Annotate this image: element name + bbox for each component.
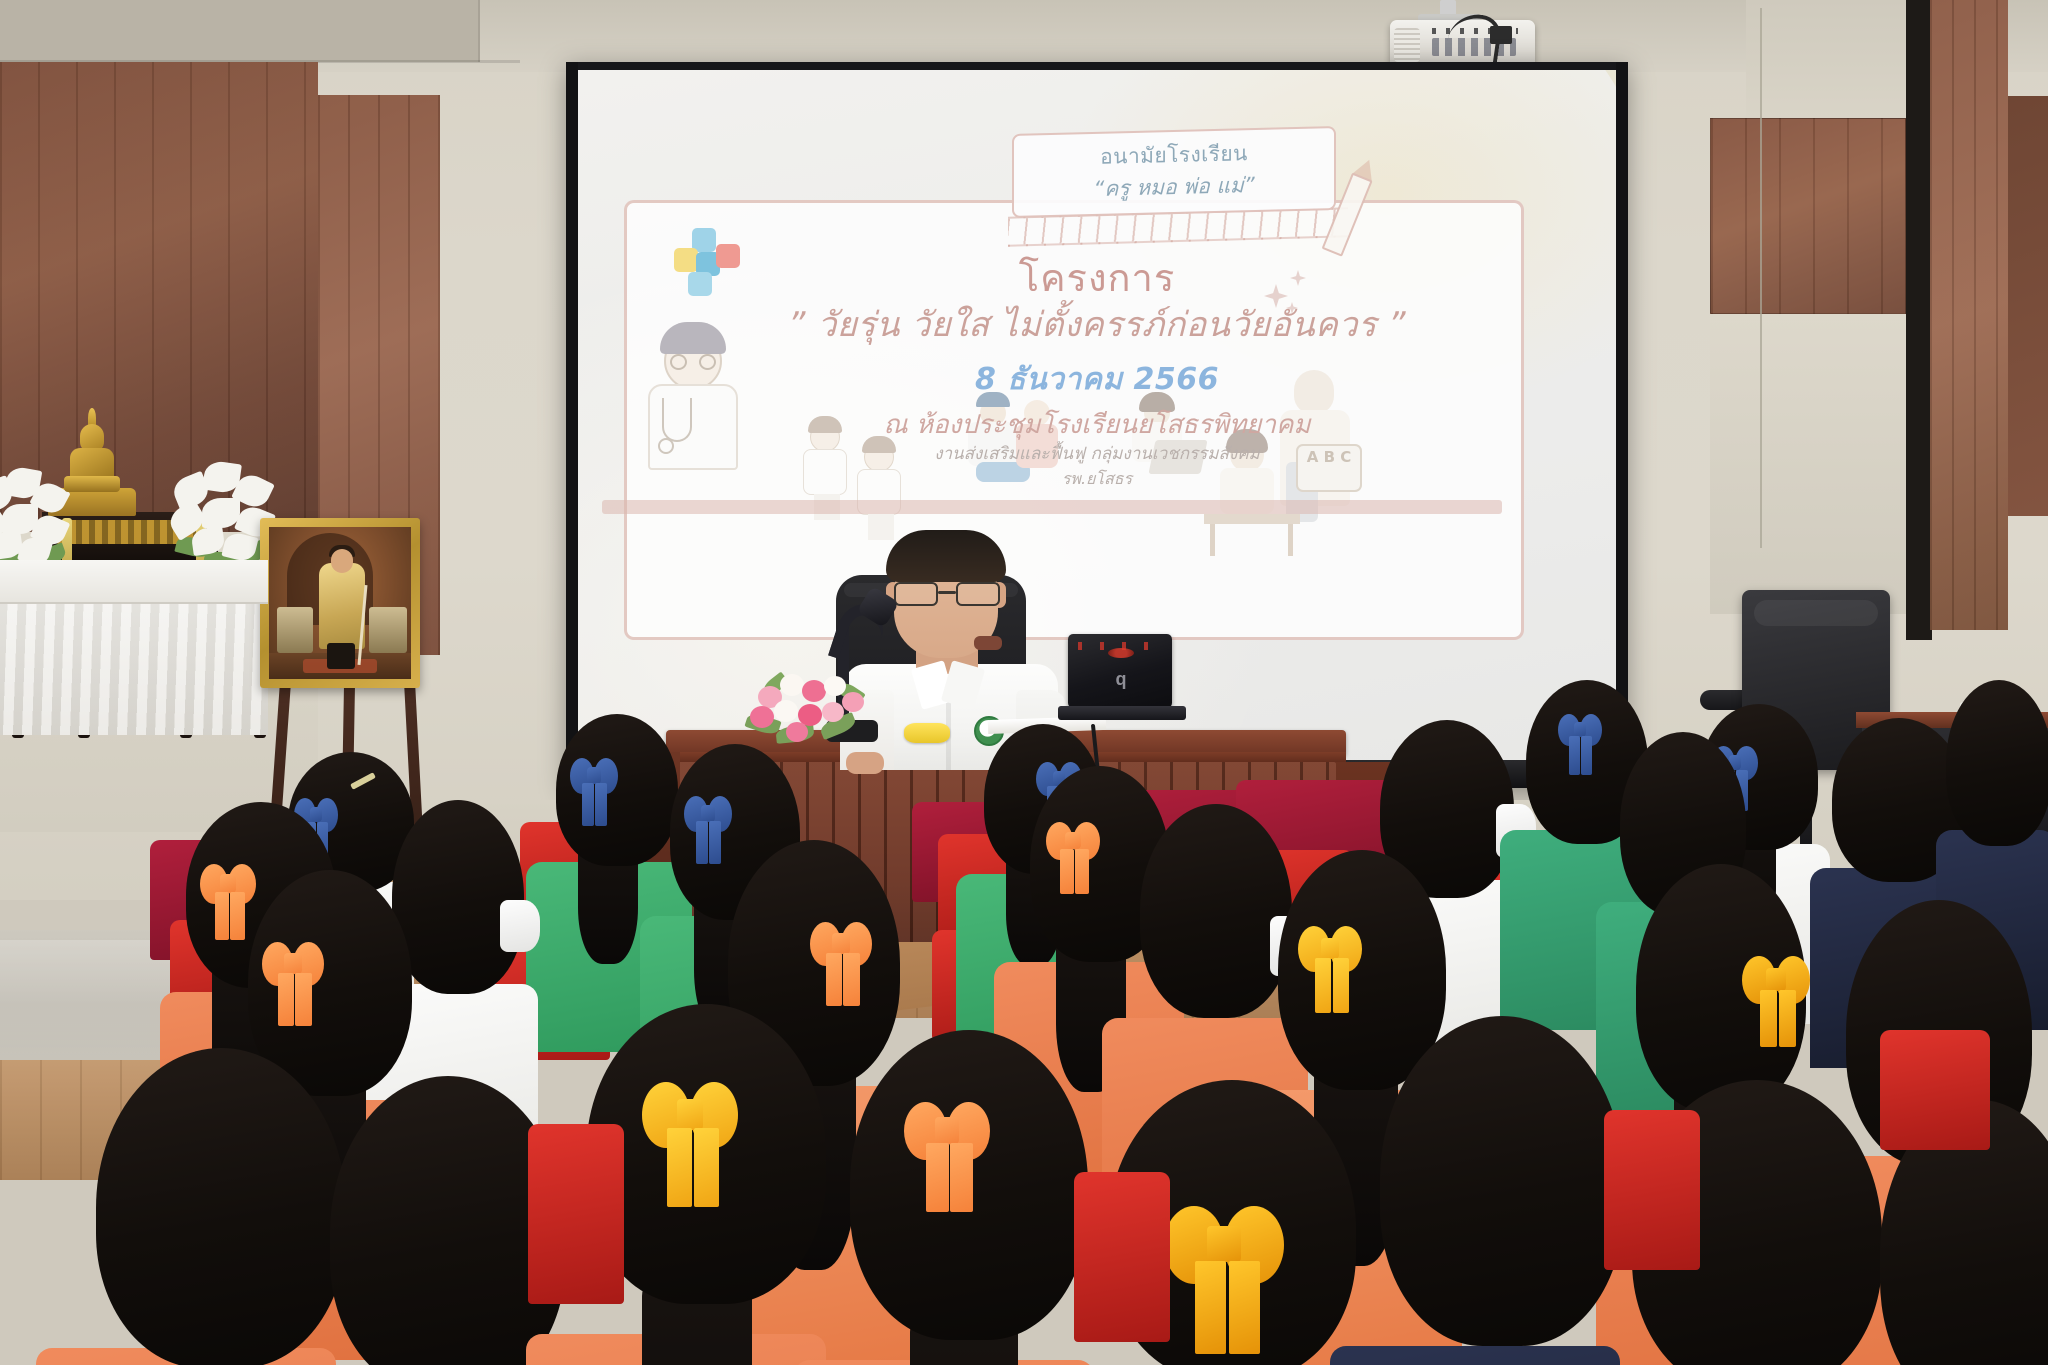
wall-cream-right [1710,314,1908,614]
slide-slogan: ” วัยรุ่น วัยใส ไม่ตั้งครรภ์ก่อนวัยอันคว… [578,300,1616,351]
hair-bow-orange [262,942,324,986]
chair-red[interactable] [1880,1030,1990,1150]
screen-edge-left [566,62,578,788]
slide-ground-line [602,500,1502,514]
slide-org-line1: งานส่งเสริมและฟื้นฟู กลุ่มงานเวชกรรมสังค… [578,443,1616,467]
wall-cable [1760,8,1762,548]
slide-place: ณ ห้องประชุมโรงเรียนยโสธรพิทยาคม [578,408,1616,443]
framed-royal-portrait [260,518,420,688]
chair-red[interactable] [1074,1172,1170,1342]
skirted-table-top [0,560,268,604]
hair-bow-blue [684,796,732,832]
laptop-brand-logo: q [1112,668,1130,690]
laptop-power-led [1108,648,1134,658]
hair-bow-yellow [1298,926,1362,972]
hair-bow-orange [200,864,256,904]
person-hair [1140,804,1292,1018]
cartoon-desk-leg-left [1210,524,1215,556]
slide-header-box: อนามัยโรงเรียน “ครู หมอ พ่อ แม่” [1012,126,1336,218]
rose-bouquet [746,664,876,744]
person-hair [1380,1016,1624,1346]
hair-bow-orange [904,1102,990,1160]
golden-buddha-statue [66,418,118,492]
ceiling-panel [0,0,480,62]
wall-wood-panel-far-right [2008,96,2048,516]
wall-wood-panel-right [1710,118,1906,314]
face-mask [500,900,540,952]
portrait-figure-body [319,563,365,649]
screen-edge-right [1616,62,1628,762]
hair-bow-orange [1046,822,1100,860]
buddha-base [64,476,120,492]
person-hair [1946,680,2048,846]
hair-bow-blue [570,758,618,794]
projector-connector-block [1490,26,1512,44]
slide-project-label: โครงการ [578,258,1616,300]
projector-vent [1394,28,1420,62]
person-shirt [1330,1346,1620,1365]
chair-red[interactable] [528,1124,624,1304]
photo-scene: อนามัยโรงเรียน “ครู หมอ พ่อ แม่” โครงการ… [0,0,2048,1365]
slide-org-line2: รพ.ยโสธร [578,467,1616,491]
cartoon-desk-leg-right [1288,524,1293,556]
chair-red[interactable] [1604,1110,1700,1270]
hair-bow-orange [810,922,872,966]
presenter [850,530,1070,740]
laptop[interactable]: q [1068,634,1172,724]
audience [0,780,2048,1365]
presenter-mouth [974,636,1002,650]
slide-header-line2: “ครู หมอ พ่อ แม่” [1014,168,1334,207]
royal-portrait-image [269,527,411,679]
person-hair [392,800,524,994]
portrait-chair-left [277,607,313,653]
presenter-hair [886,530,1006,582]
portrait-figure-legs [327,643,355,669]
cartoon-desk [1204,514,1300,524]
presenter-glasses-icon [894,582,1000,608]
presenter-hand-left [846,752,884,774]
person-hair [96,1048,346,1365]
portrait-chair-right [369,607,407,653]
slide-text-block: โครงการ ” วัยรุ่น วัยใส ไม่ตั้งครรภ์ก่อน… [578,258,1616,491]
hair-bow-gold [1742,956,1810,1004]
yellow-pointer-device[interactable] [904,723,950,743]
laptop-base [1058,706,1186,720]
hair-bow-gold [1164,1206,1284,1284]
slide-date: 8 ธันวาคม 2566 [578,351,1616,408]
wall-wood-pillar-right [1930,0,2008,630]
portrait-figure-head [331,549,353,573]
hair-bow-blue [1558,714,1602,746]
hair-bow-yellow [642,1082,738,1148]
laptop-lid: q [1068,634,1172,708]
wall-dark-edge-right [1906,0,1932,640]
